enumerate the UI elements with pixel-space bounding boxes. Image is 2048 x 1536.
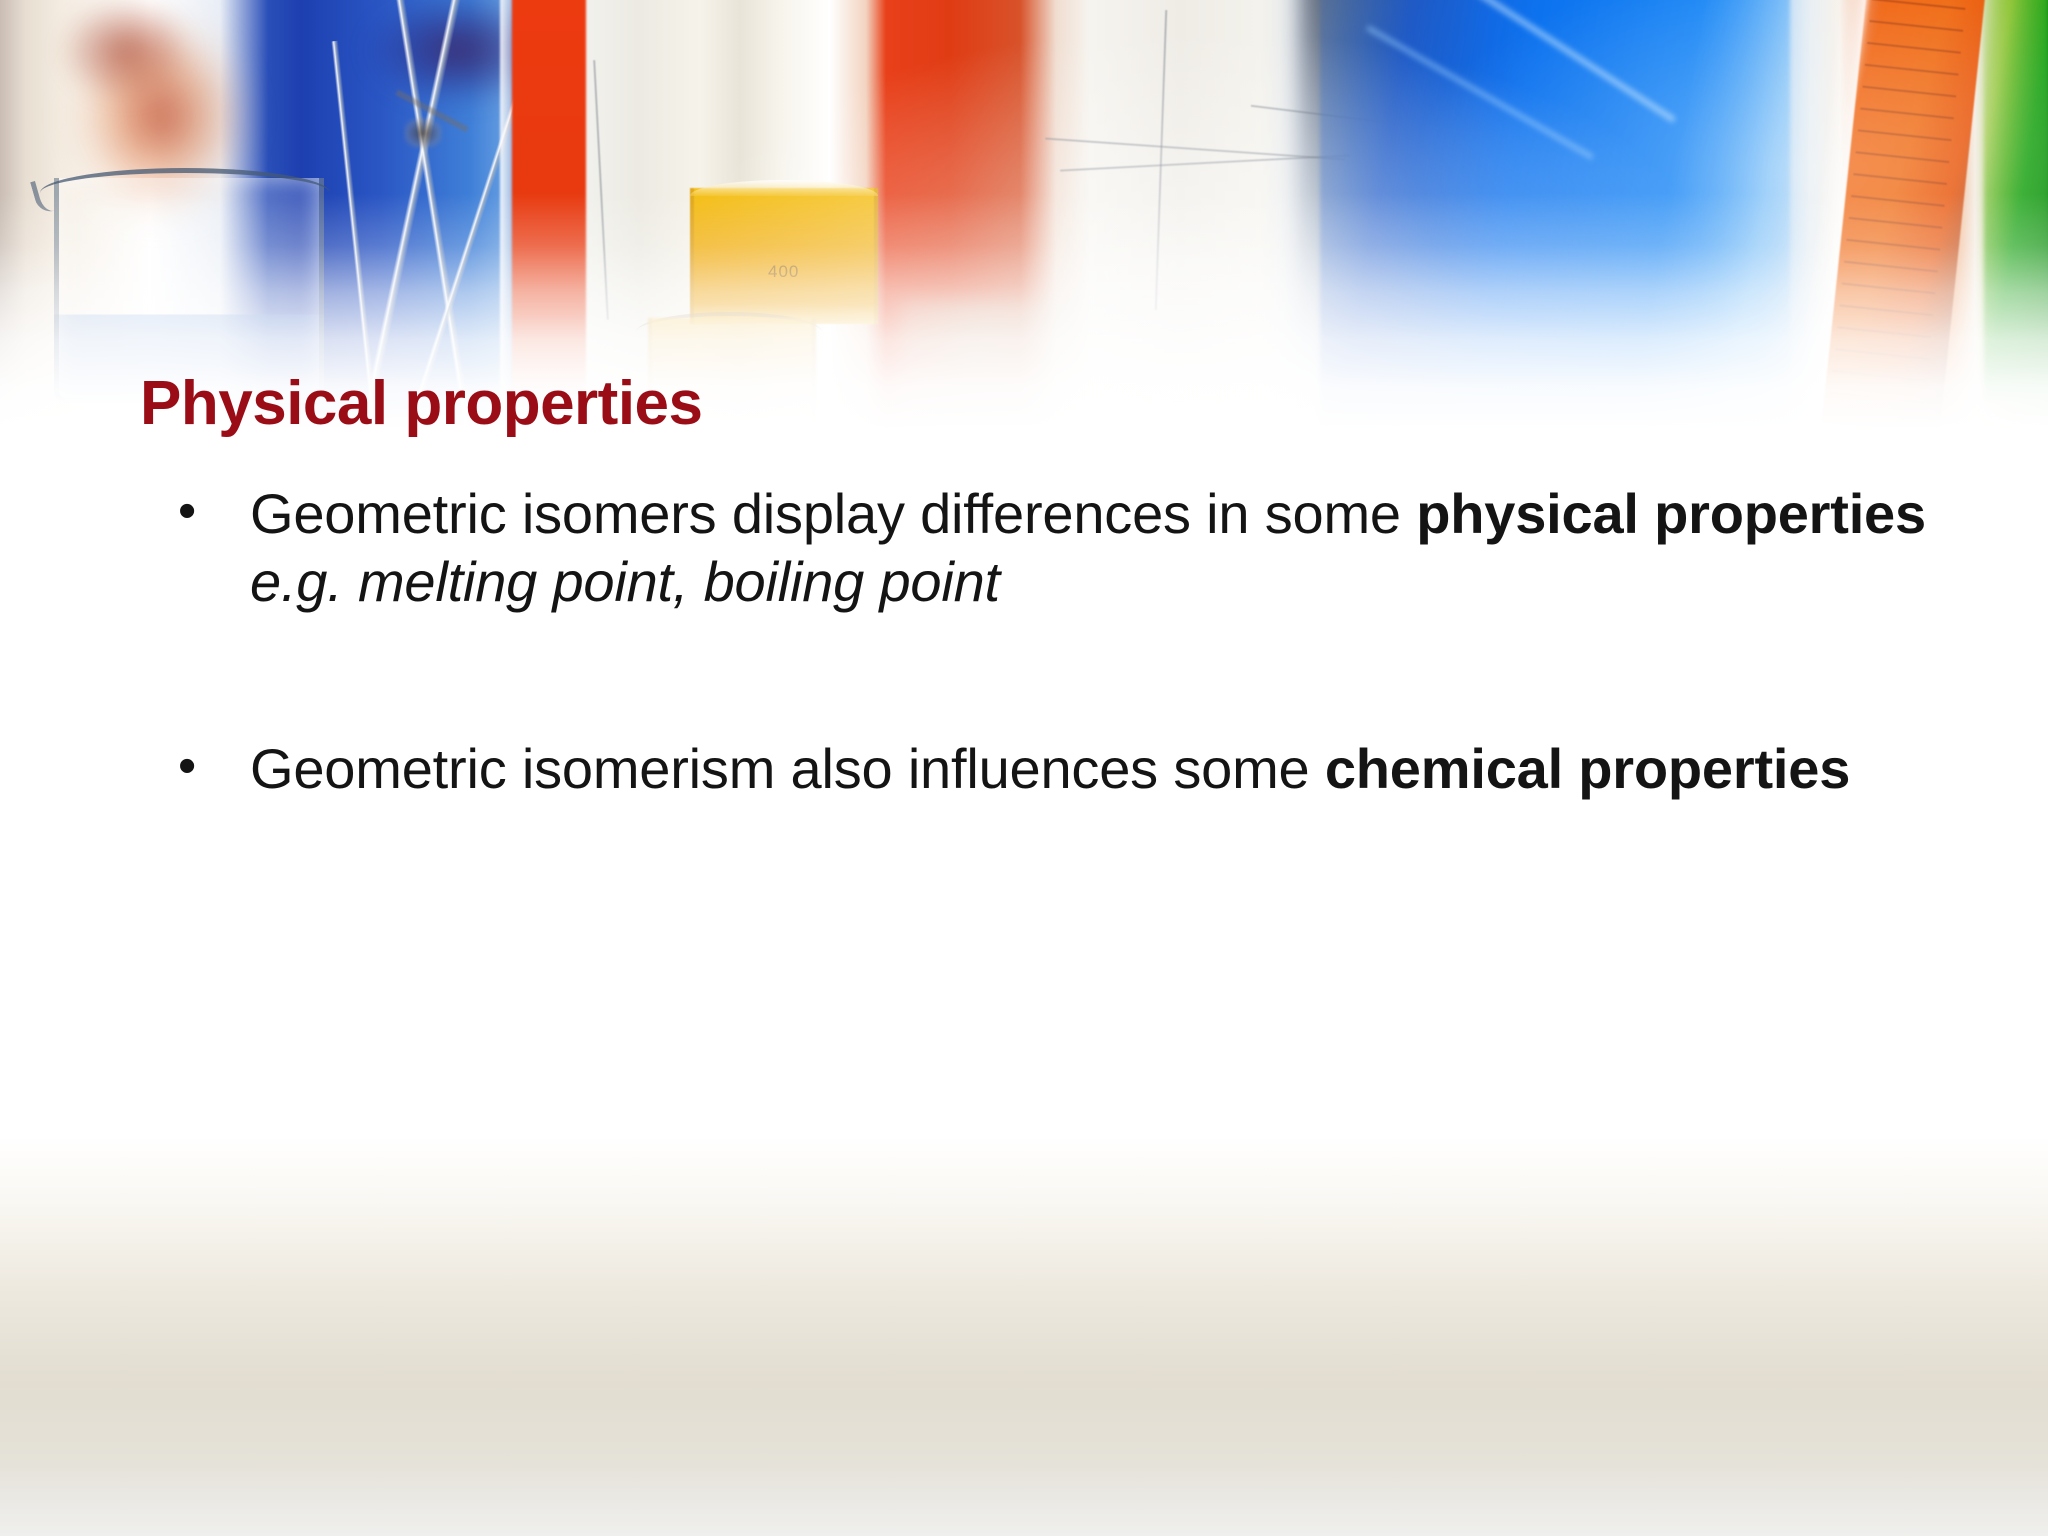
bullet-marker-icon: • bbox=[178, 735, 196, 798]
bottom-gradient-band bbox=[0, 1136, 2048, 1536]
bullet-text-1: Geometric isomers display differences in… bbox=[250, 480, 1940, 617]
background-photo-band: 400 bbox=[0, 0, 2048, 430]
photo-bottom-fade bbox=[0, 0, 2048, 430]
bullet-item: • Geometric isomers display differences … bbox=[160, 480, 1940, 617]
slide-title: Physical properties bbox=[140, 368, 703, 439]
bullet-spacer bbox=[160, 617, 1940, 735]
slide: 400 Physical properties • Geometric isom… bbox=[0, 0, 2048, 1536]
bullet-item: • Geometric isomerism also influences so… bbox=[160, 735, 1940, 803]
bullet-marker-icon: • bbox=[178, 480, 196, 543]
bullet-text-2: Geometric isomerism also influences some… bbox=[250, 735, 1940, 803]
slide-body: • Geometric isomers display differences … bbox=[160, 480, 1940, 803]
